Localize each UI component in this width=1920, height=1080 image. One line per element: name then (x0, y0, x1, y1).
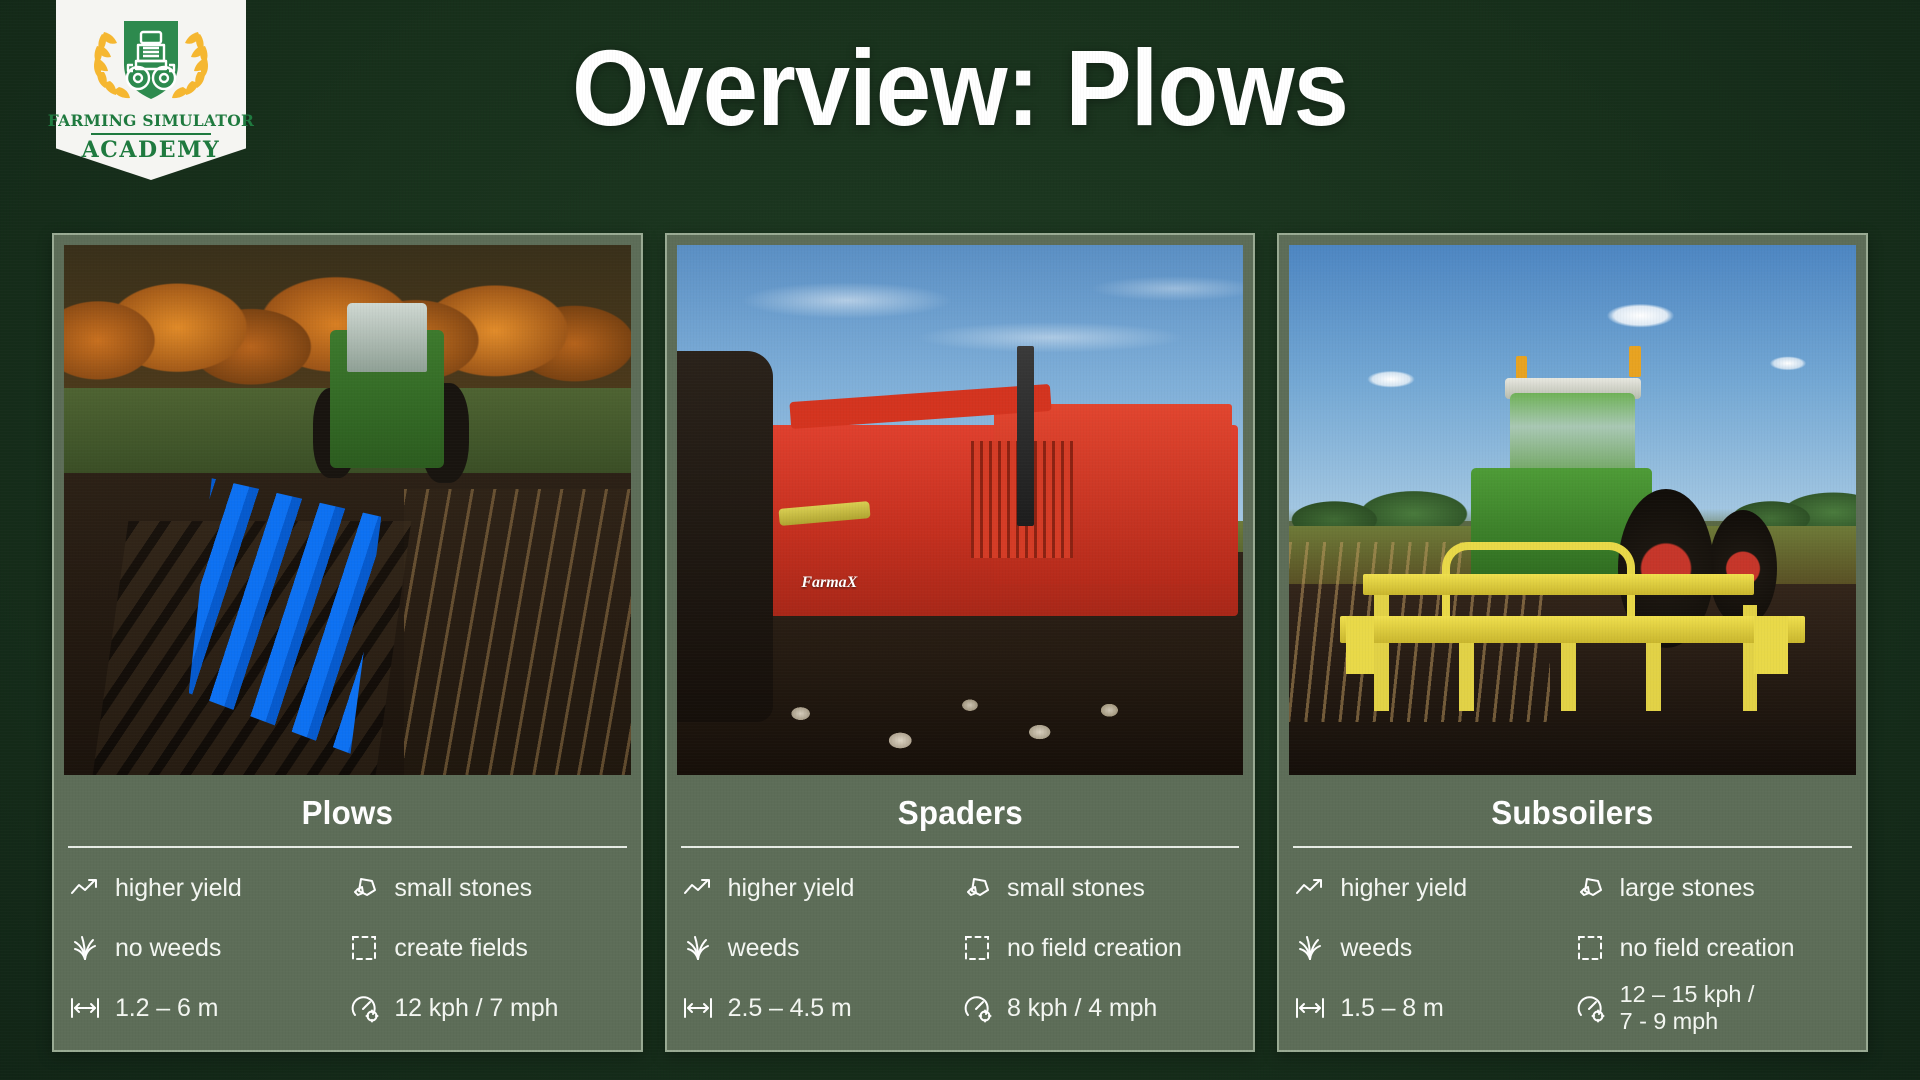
spec-label: 1.2 – 6 m (115, 994, 218, 1023)
card-divider (1293, 846, 1852, 848)
speedometer-icon (347, 991, 381, 1025)
spec-row: weeds (1293, 920, 1572, 976)
speedometer-icon (1573, 991, 1607, 1025)
dashed-square-icon (347, 931, 381, 965)
width-measure-icon (68, 991, 102, 1025)
spec-label: create fields (394, 934, 528, 963)
spec-row: large stones (1573, 860, 1852, 916)
spec-label: small stones (1007, 874, 1145, 903)
academy-logo: FARMING SIMULATOR ACADEMY (56, 0, 246, 180)
spec-row: 12 kph / 7 mph (347, 980, 626, 1036)
scene-subsoiler-field (1289, 245, 1856, 775)
page-title: Overview: Plows (77, 32, 1843, 144)
stones-icon (347, 871, 381, 905)
machine-brand-label: FarmaX (801, 574, 857, 592)
spec-row: higher yield (68, 860, 347, 916)
card-photo-spaders: FarmaX (677, 245, 1244, 775)
spec-label: 1.5 – 8 m (1340, 994, 1443, 1023)
spec-row: higher yield (1293, 860, 1572, 916)
trending-up-icon (681, 871, 715, 905)
spec-row: 1.2 – 6 m (68, 980, 347, 1036)
spec-row: 8 kph / 4 mph (960, 980, 1239, 1036)
spec-label: higher yield (728, 874, 855, 903)
width-measure-icon (681, 991, 715, 1025)
spec-row: 2.5 – 4.5 m (681, 980, 960, 1036)
spec-label: small stones (394, 874, 532, 903)
weeds-grass-icon (68, 931, 102, 965)
tractor-shield-icon (76, 8, 226, 108)
card-subsoilers[interactable]: Subsoilers higher yield large st (1277, 233, 1868, 1052)
spec-grid: higher yield small stones (64, 854, 631, 1050)
spec-grid: higher yield large stones (1289, 854, 1856, 1050)
width-measure-icon (1293, 991, 1327, 1025)
spec-label: no field creation (1620, 934, 1795, 963)
spec-label: 2.5 – 4.5 m (728, 994, 852, 1023)
spec-row: create fields (347, 920, 626, 976)
card-photo-subsoilers (1289, 245, 1856, 775)
spec-label: weeds (728, 934, 800, 963)
spec-label: no field creation (1007, 934, 1182, 963)
scene-plow-field (64, 245, 631, 775)
dashed-square-icon (960, 931, 994, 965)
dashed-square-icon (1573, 931, 1607, 965)
spec-row: small stones (960, 860, 1239, 916)
spec-row: no field creation (1573, 920, 1852, 976)
logo-title-line2: ACADEMY (82, 137, 221, 163)
stones-icon (960, 871, 994, 905)
card-photo-plows (64, 245, 631, 775)
card-title: Spaders (691, 775, 1229, 846)
spec-row: small stones (347, 860, 626, 916)
weeds-grass-icon (681, 931, 715, 965)
card-plows[interactable]: Plows higher yield small stones (52, 233, 643, 1052)
spec-grid: higher yield small stones (677, 854, 1244, 1050)
spec-row: higher yield (681, 860, 960, 916)
card-row: Plows higher yield small stones (52, 233, 1868, 1052)
spec-label: 8 kph / 4 mph (1007, 994, 1157, 1023)
speedometer-icon (960, 991, 994, 1025)
spec-label: large stones (1620, 874, 1755, 903)
spec-row: 12 – 15 kph / 7 - 9 mph (1573, 980, 1852, 1036)
spec-label: higher yield (115, 874, 242, 903)
spec-row: weeds (681, 920, 960, 976)
card-title: Plows (78, 775, 616, 846)
logo-divider (91, 133, 211, 135)
spec-label: higher yield (1340, 874, 1467, 903)
card-divider (68, 846, 627, 848)
logo-emblem (76, 8, 226, 108)
spec-row: 1.5 – 8 m (1293, 980, 1572, 1036)
trending-up-icon (68, 871, 102, 905)
scene-spader-field: FarmaX (677, 245, 1244, 775)
spec-label: no weeds (115, 934, 221, 963)
spec-row: no field creation (960, 920, 1239, 976)
card-title: Subsoilers (1304, 775, 1842, 846)
card-divider (681, 846, 1240, 848)
stones-icon (1573, 871, 1607, 905)
card-spaders[interactable]: FarmaX Spaders higher yield (665, 233, 1256, 1052)
spec-label: 12 kph / 7 mph (394, 994, 558, 1023)
weeds-grass-icon (1293, 931, 1327, 965)
spec-label: 12 – 15 kph / 7 - 9 mph (1620, 981, 1755, 1035)
spec-label: weeds (1340, 934, 1412, 963)
trending-up-icon (1293, 871, 1327, 905)
logo-title-line1: FARMING SIMULATOR (48, 111, 254, 130)
spec-row: no weeds (68, 920, 347, 976)
